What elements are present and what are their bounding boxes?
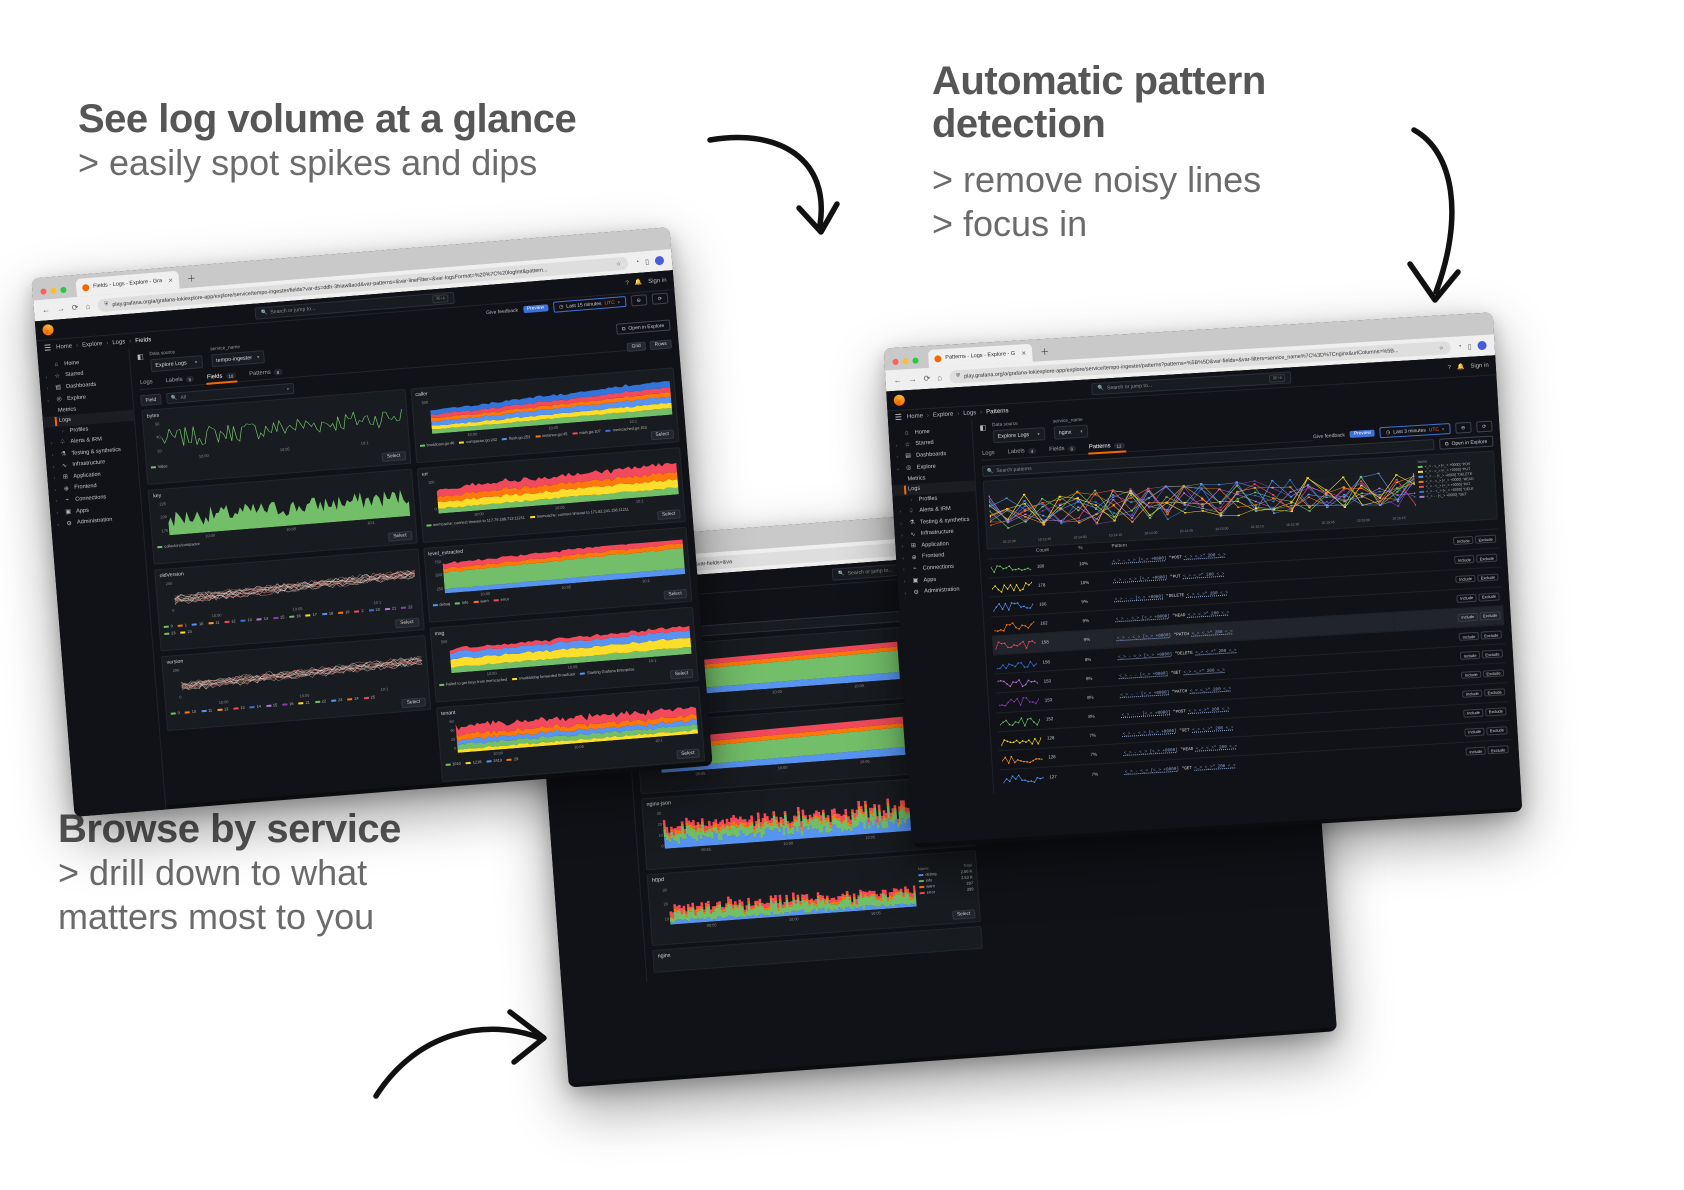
search-icon: 🔍 [171, 395, 178, 401]
include-button[interactable]: Include [1460, 651, 1480, 660]
x-tick: 10:1 [380, 686, 388, 692]
servicename-select[interactable]: nginx▾ [1053, 425, 1088, 440]
reload-icon[interactable]: ⟳ [72, 303, 79, 313]
legend-entry[interactable]: flush.go:253 [502, 434, 531, 441]
servicename-field: service_name nginx▾ [1053, 418, 1088, 440]
exclude-button[interactable]: Exclude [1479, 611, 1500, 620]
field-panel[interactable]: msg50010:0010:0510:1Failed to get keys f… [429, 607, 699, 703]
gear-icon: ⚙ [65, 520, 74, 528]
sidebar-item-label: Home [64, 360, 79, 367]
datasource-select[interactable]: Explore Logs▾ [150, 355, 203, 372]
search-placeholder-text: Search or jump to... [847, 567, 893, 576]
help-icon[interactable]: ? [625, 280, 629, 286]
field-panel[interactable]: oldVersion200010:0010:0510:1011011121314… [154, 548, 424, 651]
y-tick: 500 [441, 638, 448, 644]
chevron-right-icon[interactable]: › [901, 567, 907, 572]
x-tick: 10:1 [367, 520, 375, 526]
x-tick: 10:00 [493, 750, 503, 756]
search-placeholder-text: Search or jump to... [270, 305, 316, 315]
forward-icon[interactable]: → [908, 375, 917, 384]
chevron-right-icon[interactable]: › [43, 374, 49, 379]
sign-in-link[interactable]: Sign in [1470, 362, 1489, 369]
tab-patterns[interactable]: Patterns12 [1088, 440, 1126, 453]
grafana-logo-icon[interactable] [893, 394, 905, 406]
grafana-app-3: 🔍 Search or jump to... ⌘+k ? 🔔 Sign in ☰… [886, 355, 1522, 843]
legend-entry[interactable]: 2419 [486, 757, 502, 763]
include-button[interactable]: Include [1455, 574, 1475, 583]
pattern-percent: 10% [1076, 552, 1110, 573]
legend-label: info [926, 877, 933, 882]
legend-entry[interactable]: 15 [273, 614, 285, 620]
open-in-explore-label: Open in Explore [628, 322, 664, 331]
sidebar-item-label: Explore [67, 394, 86, 402]
include-button[interactable]: Include [1459, 632, 1479, 641]
x-tick: 10:05 [299, 693, 309, 699]
service-legend: NameTotal debug2.56 K info2.63 K warn297… [918, 862, 975, 912]
breadcrumb-logs[interactable]: Logs [963, 410, 976, 417]
legend-entry[interactable]: 0 [164, 623, 174, 629]
legend-entry[interactable]: 2 [354, 608, 364, 614]
legend-entry[interactable]: 17 [305, 612, 317, 618]
annotation-pattern-detection: Automatic pattern detection > remove noi… [932, 60, 1266, 246]
x-tick: 10:05 [561, 584, 571, 590]
tab-title: Fields - Logs - Explore - Gra [93, 278, 162, 290]
field-panels-col-left: bytes50402010:0010:0510:1ValueSelectkey2… [141, 389, 443, 817]
exclude-button[interactable]: Exclude [1484, 688, 1505, 697]
legend-entry[interactable]: info [455, 600, 469, 606]
legend-entry[interactable]: 24 [347, 696, 359, 702]
grafana-favicon [934, 355, 941, 362]
sidebar-item-label: Dashboards [916, 451, 946, 459]
x-tick: 10:00 [219, 699, 229, 705]
bookmark-star-icon[interactable]: ☆ [616, 261, 621, 267]
y-axis: 750500250 [429, 558, 445, 595]
y-tick: 200 [166, 580, 173, 586]
exclude-button[interactable]: Exclude [1483, 669, 1504, 678]
x-tick: 10:05 [548, 425, 558, 431]
include-button[interactable]: Include [1457, 594, 1477, 603]
legend-entry[interactable]: 21 [385, 605, 397, 611]
x-tick: 10:1 [629, 418, 637, 424]
star-icon: ☆ [53, 372, 62, 380]
legend-entry[interactable]: 1 [178, 622, 188, 628]
sidebar-item-label: Infrastructure [921, 529, 954, 537]
profile-avatar[interactable] [655, 256, 665, 266]
y-tick: 175 [161, 528, 168, 534]
star-icon: ☆ [903, 441, 911, 448]
pulse-icon: ∿ [909, 531, 917, 538]
x-tick: 10:1 [361, 440, 369, 446]
servicename-value: nginx [1058, 429, 1071, 436]
legend-entry[interactable]: 11 [201, 707, 212, 713]
search-patterns-placeholder: Search patterns [996, 465, 1032, 473]
legend-entry[interactable]: debug [432, 601, 450, 607]
legend-entry[interactable]: 14 [249, 704, 261, 710]
datasource-value: Explore Logs [998, 432, 1030, 440]
view-grid-button[interactable]: Grid [626, 341, 646, 351]
chevron-down-icon[interactable]: ⌄ [45, 397, 51, 403]
compass-icon: ◎ [55, 395, 64, 403]
chevron-right-icon[interactable]: › [48, 441, 54, 446]
x-tick: 10:00 [778, 765, 788, 771]
refresh-button[interactable]: ⟳ [1476, 421, 1493, 433]
legend-entry[interactable]: 29 [507, 756, 519, 762]
x-tick: 10:05 [871, 910, 881, 916]
field-panel[interactable]: bytes50402010:0010:0510:1ValueSelect [141, 389, 411, 485]
x-tick: 10:05 [865, 834, 875, 840]
search-icon: 🔍 [987, 468, 994, 474]
select-button[interactable]: Select [388, 531, 412, 542]
legend-entry[interactable]: 16 [282, 701, 294, 707]
forward-icon[interactable]: → [57, 304, 66, 314]
datasource-value: Explore Logs [155, 360, 187, 369]
legend-entry[interactable]: 23 [331, 697, 343, 703]
exclude-button[interactable]: Exclude [1475, 535, 1496, 544]
y-tick: 20 [451, 736, 456, 741]
chevron-right-icon[interactable]: › [900, 555, 906, 560]
y-tick: 20 [663, 901, 668, 906]
back-icon[interactable]: ← [893, 376, 902, 385]
exclude-button[interactable]: Exclude [1477, 573, 1498, 582]
browser-window-patterns[interactable]: Patterns - Logs - Explore - G ✕ ＋ ← → ⟳ … [884, 312, 1523, 847]
select-button[interactable]: Select [670, 669, 694, 680]
sidebar-item-label: Connections [923, 564, 954, 572]
tab-patterns[interactable]: Patterns8 [248, 367, 284, 381]
home-icon[interactable]: ⌂ [937, 373, 942, 382]
sidebar-item-label: Infrastructure [72, 459, 105, 468]
sidebar-item-label: Testing & synthetics [920, 516, 970, 525]
legend-entry[interactable]: 19 [338, 609, 350, 615]
sidebar-item-label: Frontend [74, 483, 97, 491]
select-button[interactable]: Select [401, 697, 425, 708]
tab-labels[interactable]: Labels4 [1006, 446, 1037, 459]
legend-entry[interactable]: 11 [208, 620, 219, 626]
include-button[interactable]: Include [1462, 689, 1482, 698]
y-tick: 60 [449, 718, 454, 723]
sidebar-item-label: Profiles [69, 426, 88, 433]
legend-entry[interactable]: 24 [180, 629, 192, 635]
chevron-right-icon[interactable]: › [897, 509, 903, 514]
pattern-count: 178 [1034, 573, 1077, 595]
legend-entry[interactable]: 22 [401, 604, 413, 610]
legend-entry[interactable]: 14 [257, 616, 269, 622]
annotation-pattern-detection-sub-1: > remove noisy lines [932, 158, 1266, 202]
new-tab-button[interactable]: ＋ [1036, 344, 1054, 361]
datasource-select[interactable]: Explore Logs▾ [992, 427, 1045, 443]
extensions-icon[interactable]: ◔ [1457, 343, 1462, 350]
tab-count: 12 [1113, 442, 1124, 449]
bookmark-star-icon[interactable]: ☆ [1439, 345, 1444, 351]
chevron-right-icon[interactable]: › [49, 452, 55, 457]
chevron-right-icon[interactable]: › [898, 521, 904, 526]
chevron-right-icon[interactable]: › [894, 454, 900, 459]
chevron-down-icon: ▾ [195, 359, 198, 365]
breadcrumb-home[interactable]: Home [56, 343, 72, 350]
chevron-right-icon[interactable]: › [899, 544, 905, 549]
legend-entry[interactable]: 16 [289, 613, 301, 619]
chevron-right-icon[interactable]: › [53, 498, 59, 503]
select-button[interactable]: Select [676, 748, 700, 759]
exclude-button[interactable]: Exclude [1481, 631, 1502, 640]
y-axis: 6040200 [441, 717, 457, 754]
app-main-3: ⌂Home ›☆Starred ›▤Dashboards ⌄◎Explore M… [888, 388, 1519, 799]
pattern-count: 153 [1040, 669, 1083, 691]
legend-entry[interactable]: 10 [185, 709, 197, 715]
exclude-button[interactable]: Exclude [1485, 707, 1506, 716]
servicename-value: tempo-ingester [216, 355, 252, 364]
legend-entry[interactable]: 22 [315, 698, 327, 704]
timezone-label: UTC [1429, 426, 1440, 433]
open-in-explore-button[interactable]: ⧉ Open in Explore [615, 319, 670, 334]
chevron-right-icon[interactable]: › [54, 510, 60, 515]
servicename-select[interactable]: tempo-ingester▾ [211, 350, 265, 367]
x-tick: 09:55 [707, 922, 717, 928]
legend-entry[interactable]: Value [151, 463, 168, 469]
y-axis: 504020 [147, 420, 163, 457]
gear-icon: ⚙ [912, 588, 920, 595]
exclude-button[interactable]: Exclude [1476, 554, 1497, 563]
select-button[interactable]: Select [663, 589, 687, 600]
chevron-right-icon[interactable]: › [51, 475, 57, 480]
close-window-dot[interactable] [40, 288, 46, 294]
legend-value: 297 [966, 880, 973, 885]
chevron-right-icon[interactable]: › [50, 464, 56, 469]
back-icon[interactable]: ← [42, 305, 51, 315]
legend-entry[interactable]: error [493, 596, 509, 602]
x-tick: 09:55 [695, 771, 705, 777]
chevron-right-icon[interactable]: › [52, 487, 58, 492]
chevron-right-icon[interactable]: › [899, 532, 905, 537]
include-button[interactable]: Include [1461, 670, 1481, 679]
y-axis: 225200175 [154, 499, 170, 536]
tab-logs[interactable]: Logs [981, 448, 996, 460]
exclude-button[interactable]: Exclude [1486, 726, 1507, 735]
window-controls-3[interactable] [890, 357, 925, 370]
chevron-right-icon[interactable]: › [901, 579, 907, 584]
chevron-right-icon[interactable]: › [893, 443, 899, 448]
chevron-right-icon[interactable]: › [902, 590, 908, 595]
browser-window-fields[interactable]: Fields - Logs - Explore - Gra ✕ ＋ ← → ⟳ … [31, 227, 712, 817]
tab-fields[interactable]: Fields0 [1048, 443, 1078, 456]
legend-entry[interactable]: 25 [363, 694, 375, 700]
zoom-out-button[interactable]: ⊖ [1455, 422, 1472, 434]
grafana-logo-icon[interactable] [42, 324, 54, 336]
news-icon[interactable]: 🔔 [635, 279, 643, 287]
select-button[interactable]: Select [657, 509, 681, 520]
select-button[interactable]: Select [395, 618, 419, 629]
y-tick: 500 [435, 572, 442, 578]
field-search-value: All [180, 394, 186, 400]
globe-icon: ⊕ [910, 554, 918, 561]
pattern-percent: 7% [1087, 744, 1121, 765]
sidebar-item-label: Metrics [907, 475, 925, 482]
annotation-log-volume-title: See log volume at a glance [78, 98, 576, 141]
globe-icon: ⊕ [62, 485, 71, 493]
x-tick: 10:05 [292, 606, 302, 612]
patterns-legend: Name <_> - <_> [<_> +0000] "POS<_> - <_>… [1417, 456, 1492, 519]
pattern-count: 153 [1041, 688, 1084, 710]
legend-entry[interactable]: 10 [192, 621, 204, 627]
clock-icon: ◷ [559, 303, 564, 309]
sidebar-item-label: Connections [75, 494, 106, 502]
chevron-right-icon[interactable]: › [909, 497, 915, 502]
split-view-icon[interactable]: ▯ [1468, 342, 1472, 350]
external-link-icon: ⧉ [1445, 441, 1449, 447]
legend-entry[interactable]: 12 [224, 618, 236, 624]
pattern-count: 128 [1045, 746, 1088, 768]
bell-icon: ♤ [58, 439, 67, 447]
help-icon[interactable]: ? [1447, 364, 1451, 370]
x-tick: 10:05 [854, 683, 864, 689]
field-panel[interactable]: key22520017510:0010:0510:1collectors/com… [148, 469, 418, 565]
maximize-window-dot[interactable] [912, 357, 918, 363]
patterns-table: Count % Pattern 18010%<_> - <_> [<_> +00… [987, 519, 1512, 788]
field-panel[interactable]: level_extracted75050025010:0010:0510:1de… [423, 527, 693, 623]
external-link-icon: ⧉ [622, 326, 626, 332]
pattern-count: 128 [1044, 726, 1087, 748]
tab-count: 4 [1028, 448, 1037, 454]
tab-fields[interactable]: Fields10 [206, 370, 238, 383]
breadcrumb-explore[interactable]: Explore [82, 341, 103, 349]
y-tick: 40 [450, 727, 455, 732]
x-tick: 10:00 [474, 511, 484, 517]
x-tick: 10:05 [574, 744, 584, 750]
flask-icon: ⚗ [908, 519, 916, 526]
give-feedback-link[interactable]: Give feedback [486, 307, 518, 316]
chevron-right-icon[interactable]: › [44, 386, 50, 391]
chevron-right-icon[interactable]: › [55, 522, 61, 527]
breadcrumb-home[interactable]: Home [907, 413, 923, 420]
x-tick: 10:16:00 [1357, 518, 1370, 523]
tab-count: 0 [1067, 445, 1076, 451]
view-rows-button[interactable]: Rows [649, 339, 672, 350]
close-tab-icon[interactable]: ✕ [168, 277, 174, 284]
field-panel[interactable]: err100010:0010:0510:1memcache: connect t… [416, 447, 686, 543]
breadcrumb-logs[interactable]: Logs [112, 339, 125, 346]
tab-logs[interactable]: Logs [139, 377, 154, 389]
menu-icon[interactable]: ☰ [895, 413, 903, 422]
field-panels-col-right: caller50010:0010:0510:1broadcast.go:46co… [410, 367, 712, 816]
give-feedback-link[interactable]: Give feedback [1313, 432, 1345, 440]
tab-count: 8 [274, 369, 283, 376]
close-window-dot[interactable] [892, 359, 898, 365]
exclude-button[interactable]: Exclude [1487, 745, 1508, 754]
tab-labels[interactable]: Labels5 [164, 374, 195, 387]
legend-entry[interactable]: 1218 [466, 759, 482, 765]
x-tick: 10:00 [199, 453, 209, 459]
maximize-window-dot[interactable] [60, 287, 66, 293]
sign-in-link[interactable]: Sign in [648, 277, 667, 284]
zoom-out-button[interactable]: ⊖ [630, 294, 647, 306]
select-button[interactable]: Select [952, 909, 976, 920]
open-in-explore-button[interactable]: ⧉ Open in Explore [1439, 436, 1494, 450]
new-tab-button[interactable]: ＋ [182, 271, 200, 288]
select-button[interactable]: Select [382, 451, 406, 462]
pattern-percent: 9% [1080, 629, 1114, 650]
chrome-actions[interactable]: ◔ ▯ [635, 256, 665, 267]
x-tick: 10:05 [860, 759, 870, 765]
profile-avatar[interactable] [1477, 341, 1487, 351]
pattern-percent: 8% [1085, 705, 1119, 726]
legend-entry[interactable]: 13 [233, 705, 245, 711]
arrow-browse-by-service [368, 1000, 558, 1110]
preview-badge[interactable]: Preview [523, 304, 549, 313]
field-panel[interactable]: version200010:0010:0510:1010111213141516… [161, 635, 431, 731]
chevron-right-icon[interactable]: › [60, 429, 66, 434]
apps-icon: ⊞ [909, 542, 917, 549]
x-tick: 10:05 [280, 446, 290, 452]
include-button[interactable]: Include [1463, 709, 1483, 718]
home-icon: ⌂ [903, 430, 911, 436]
include-button[interactable]: Include [1465, 728, 1485, 737]
legend-entry[interactable]: 13 [240, 617, 252, 623]
legend-entry[interactable]: 15 [266, 702, 278, 708]
sidebar-item-label: Logs [59, 417, 72, 424]
legend-entry[interactable]: 23 [164, 630, 176, 636]
refresh-button[interactable]: ⟳ [651, 293, 668, 305]
field-panel[interactable]: tenant604020010:0010:0510:11010121824192… [436, 686, 706, 782]
include-button[interactable]: Include [1458, 613, 1478, 622]
menu-icon[interactable]: ☰ [44, 343, 52, 353]
split-view-icon[interactable]: ▯ [645, 257, 649, 265]
legend-entry[interactable]: 20 [368, 607, 380, 613]
servicename-field: service_name tempo-ingester▾ [210, 343, 265, 367]
extensions-icon[interactable]: ◔ [635, 259, 640, 266]
chevron-down-icon[interactable]: ⌄ [895, 465, 901, 471]
legend-entry[interactable]: 18 [322, 610, 334, 616]
minimize-window-dot[interactable] [902, 358, 908, 364]
annotation-browse-by-service: Browse by service > drill down to what m… [58, 808, 401, 939]
x-tick: 10:14:30 [1144, 531, 1157, 536]
y-tick: 30 [657, 810, 662, 815]
annotation-pattern-detection-sub-2: > focus in [932, 202, 1266, 246]
close-tab-icon[interactable]: ✕ [1021, 350, 1026, 357]
arrow-log-volume [700, 120, 860, 280]
y-tick: 500 [421, 399, 428, 405]
news-icon[interactable]: 🔔 [1457, 363, 1465, 370]
x-tick: 10:05 [555, 505, 565, 511]
legend-entry[interactable]: 21 [298, 700, 310, 706]
collapse-panel-icon[interactable]: ◧ [979, 424, 986, 432]
reload-icon[interactable]: ⟳ [923, 374, 930, 383]
sidebar-item-label: Alerts & IRM [919, 506, 951, 514]
chrome-actions[interactable]: ◔ ▯ [1457, 341, 1487, 352]
legend-entry[interactable]: main.go:107 [572, 428, 601, 435]
home-icon[interactable]: ⌂ [85, 302, 91, 311]
collapse-panel-icon[interactable]: ◧ [137, 353, 144, 362]
include-button[interactable]: Include [1454, 555, 1474, 564]
select-button[interactable]: Select [650, 430, 674, 441]
legend-col-name: Name [918, 866, 929, 872]
include-button[interactable]: Include [1453, 536, 1473, 545]
legend-entry[interactable]: 1010 [445, 761, 461, 767]
exclude-button[interactable]: Exclude [1482, 650, 1503, 659]
time-range-picker[interactable]: ◷ Last 3 minutes UTC ▾ [1380, 423, 1451, 438]
grafana-app-1: 🔍 Search or jump to... ⌘+k ? 🔔 Sign in ☰… [35, 270, 712, 813]
legend-entry[interactable]: 12 [217, 706, 229, 712]
legend-entry[interactable]: 0 [170, 710, 180, 716]
include-button[interactable]: Include [1466, 747, 1486, 756]
breadcrumb-explore[interactable]: Explore [933, 411, 954, 418]
minimize-window-dot[interactable] [50, 288, 56, 294]
legend-entry[interactable]: warn [473, 598, 489, 604]
preview-badge[interactable]: Preview [1350, 430, 1375, 438]
exclude-button[interactable]: Exclude [1478, 592, 1499, 601]
y-tick: 0 [661, 843, 664, 848]
tab-title: Patterns - Logs - Explore - G [945, 351, 1015, 361]
x-tick: 10:00 [467, 431, 477, 437]
field-panel[interactable]: caller50010:0010:0510:1broadcast.go:46co… [410, 367, 680, 463]
